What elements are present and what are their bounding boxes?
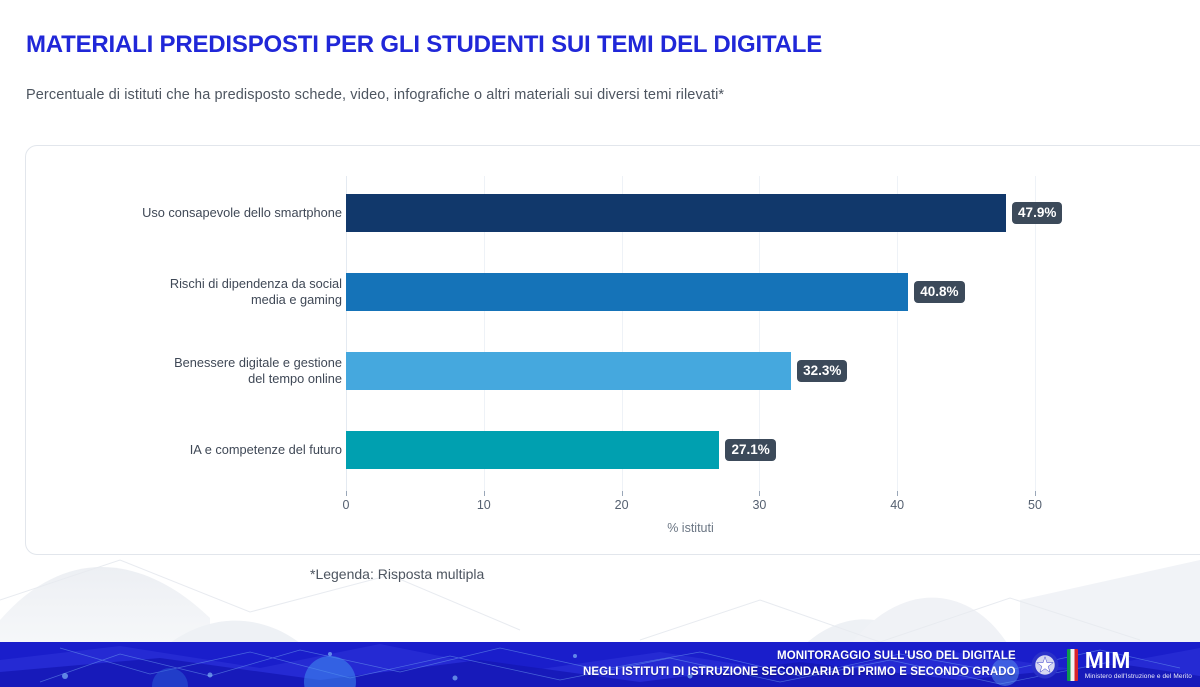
- bar-category-label: Rischi di dipendenza da social media e g…: [82, 276, 342, 308]
- x-axis-tick: [759, 491, 760, 496]
- x-axis-tick: [897, 491, 898, 496]
- bar-value-label: 32.3%: [797, 360, 847, 382]
- mim-name: MIM: [1085, 649, 1192, 672]
- x-axis-tick-label: 50: [1028, 498, 1042, 512]
- italian-flag-icon: [1067, 649, 1078, 681]
- bar-value-label: 47.9%: [1012, 202, 1062, 224]
- legend-note: *Legenda: Risposta multipla: [310, 566, 484, 582]
- footer-line-1: MONITORAGGIO SULL'USO DEL DIGITALE: [583, 649, 1016, 665]
- page-title: MATERIALI PREDISPOSTI PER GLI STUDENTI S…: [26, 32, 1200, 58]
- footer-text: MONITORAGGIO SULL'USO DEL DIGITALE NEGLI…: [583, 649, 1016, 680]
- x-axis-tick: [1035, 491, 1036, 496]
- x-axis-tick-label: 40: [890, 498, 904, 512]
- bar[interactable]: [346, 431, 719, 469]
- footer-line-2: NEGLI ISTITUTI DI ISTRUZIONE SECONDARIA …: [583, 665, 1016, 681]
- x-axis-tick: [346, 491, 347, 496]
- bar[interactable]: [346, 273, 908, 311]
- page-header: MATERIALI PREDISPOSTI PER GLI STUDENTI S…: [0, 0, 1200, 103]
- x-axis-title: % istituti: [346, 521, 1035, 535]
- italian-republic-emblem-icon: [1030, 650, 1060, 680]
- mim-logo: MIM Ministero dell'Istruzione e del Meri…: [1030, 649, 1192, 681]
- mim-wordmark: MIM Ministero dell'Istruzione e del Meri…: [1085, 649, 1192, 681]
- bar[interactable]: [346, 194, 1006, 232]
- x-axis-tick: [622, 491, 623, 496]
- bar-row[interactable]: IA e competenze del futuro27.1%: [346, 431, 719, 469]
- bar-category-label: IA e competenze del futuro: [82, 442, 342, 458]
- page-subtitle: Percentuale di istituti che ha predispos…: [26, 87, 1200, 103]
- bar-category-label: Uso consapevole dello smartphone: [82, 205, 342, 221]
- bar-chart-plot-area: % istituti 01020304050Uso consapevole de…: [346, 176, 1035, 491]
- bar-value-label: 27.1%: [725, 439, 775, 461]
- x-axis-tick-label: 30: [752, 498, 766, 512]
- bar-value-label: 40.8%: [914, 281, 964, 303]
- x-axis-tick-label: 10: [477, 498, 491, 512]
- bar[interactable]: [346, 352, 791, 390]
- footer-band: MONITORAGGIO SULL'USO DEL DIGITALE NEGLI…: [0, 642, 1200, 687]
- bar-row[interactable]: Uso consapevole dello smartphone47.9%: [346, 194, 1006, 232]
- x-axis-tick-label: 0: [343, 498, 350, 512]
- bar-row[interactable]: Rischi di dipendenza da social media e g…: [346, 273, 908, 311]
- bar-category-label: Benessere digitale e gestione del tempo …: [82, 355, 342, 387]
- x-axis-tick: [484, 491, 485, 496]
- x-axis-tick-label: 20: [615, 498, 629, 512]
- chart-card: % istituti 01020304050Uso consapevole de…: [25, 145, 1200, 555]
- mim-subtitle: Ministero dell'Istruzione e del Merito: [1085, 674, 1192, 681]
- bar-row[interactable]: Benessere digitale e gestione del tempo …: [346, 352, 791, 390]
